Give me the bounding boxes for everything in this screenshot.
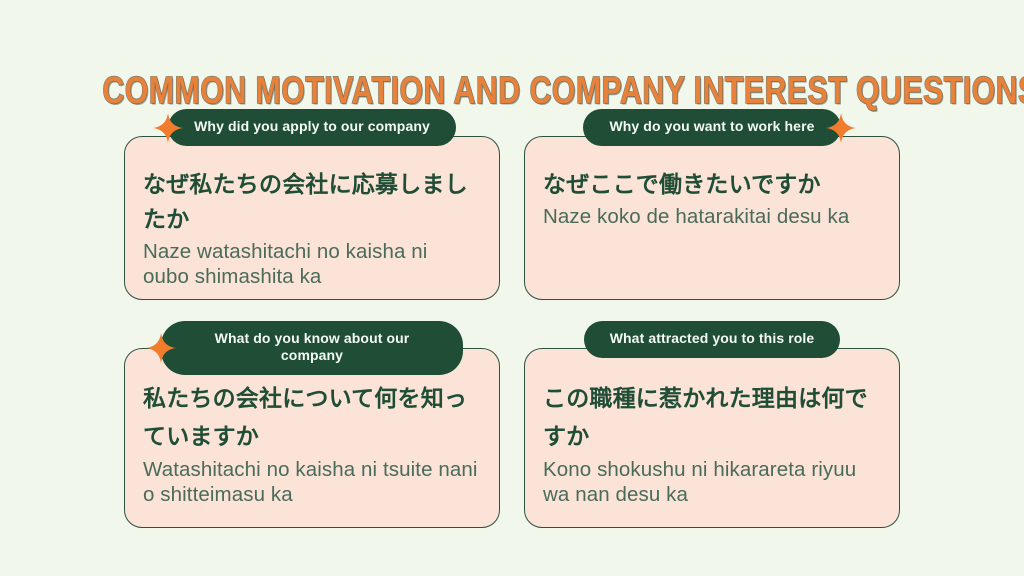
question-romaji: Naze koko de hatarakitai desu ka (543, 204, 879, 229)
question-romaji: Naze watashitachi no kaisha ni oubo shim… (143, 239, 479, 289)
question-card: What attracted you to this role この職種に惹かれ… (524, 348, 900, 528)
card-header-label: What do you know about our company (215, 330, 410, 363)
question-romaji: Kono shokushu ni hikarareta riyuu wa nan… (543, 457, 879, 507)
card-header-label: Why do you want to work here (609, 118, 814, 134)
card-header-label: What attracted you to this role (610, 330, 815, 346)
card-header-wrap: Why did you apply to our company (125, 109, 499, 146)
question-romaji: Watashitachi no kaisha ni tsuite nani o … (143, 457, 479, 507)
card-header-pill[interactable]: What do you know about our company (161, 321, 463, 375)
question-card: What do you know about our company 私たちの会… (124, 348, 500, 528)
question-card: Why did you apply to our company なぜ私たちの会… (124, 136, 500, 300)
sparkle-star-icon (146, 333, 176, 363)
question-japanese: 私たちの会社について何を知っていますか (143, 379, 479, 455)
card-header-pill[interactable]: Why do you want to work here (583, 109, 840, 146)
question-japanese: なぜここで働きたいですか (543, 167, 879, 202)
question-japanese: なぜ私たちの会社に応募しましたか (143, 167, 479, 237)
card-header-wrap: Why do you want to work here (525, 109, 899, 146)
question-card-grid: Why did you apply to our company なぜ私たちの会… (124, 136, 900, 528)
card-header-wrap: What attracted you to this role (525, 321, 899, 358)
question-card: Why do you want to work here なぜここで働きたいです… (524, 136, 900, 300)
sparkle-star-icon (153, 113, 183, 143)
question-japanese: この職種に惹かれた理由は何ですか (543, 379, 879, 455)
card-header-pill[interactable]: What attracted you to this role (584, 321, 841, 358)
page-title: COMMON MOTIVATION AND COMPANY INTEREST Q… (102, 69, 921, 113)
sparkle-star-icon (826, 113, 856, 143)
card-header-wrap: What do you know about our company (125, 321, 499, 375)
card-header-label: Why did you apply to our company (194, 118, 430, 134)
slide-canvas: COMMON MOTIVATION AND COMPANY INTEREST Q… (0, 0, 1024, 576)
card-header-pill[interactable]: Why did you apply to our company (168, 109, 456, 146)
